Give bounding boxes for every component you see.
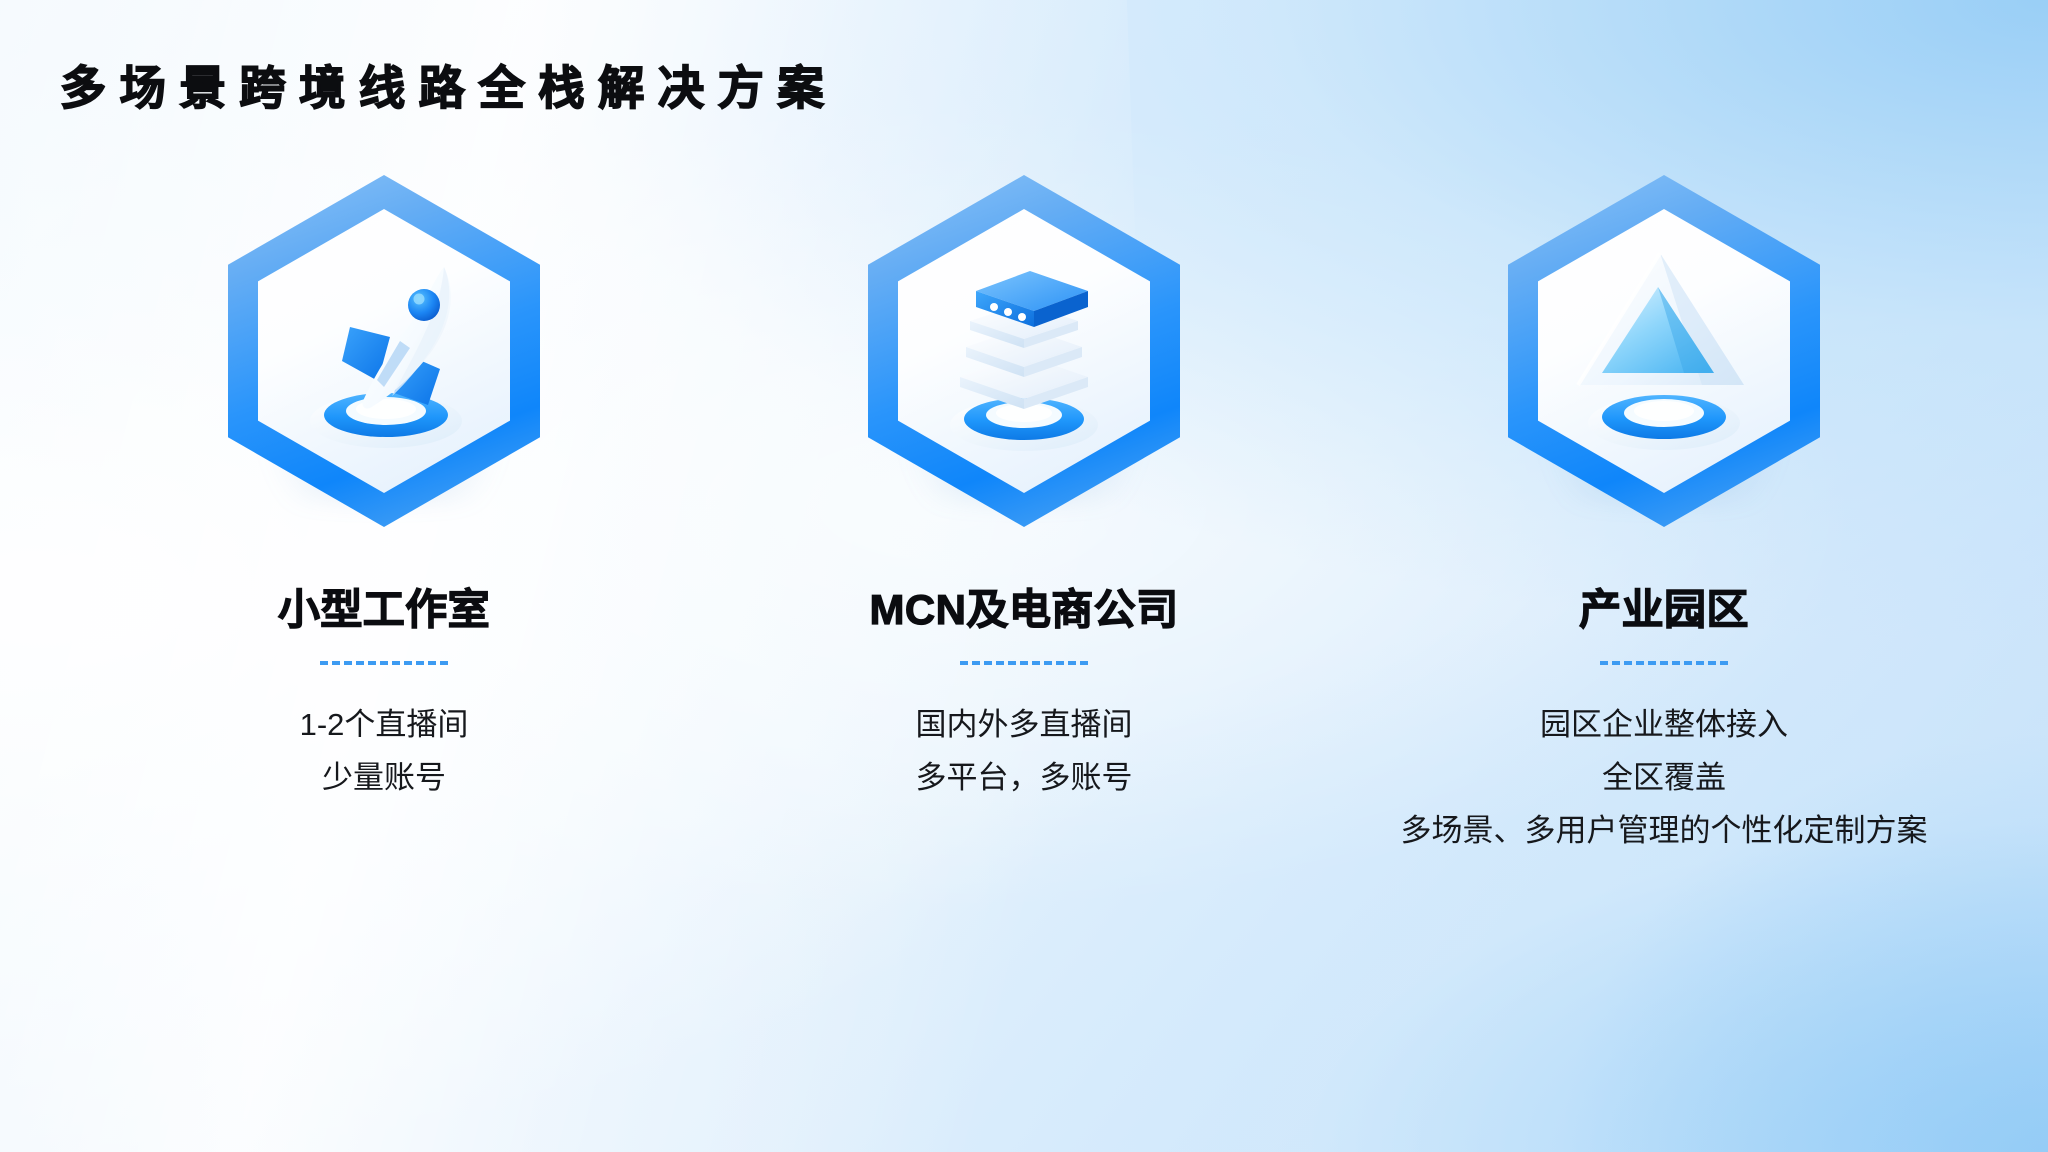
rocket-icon	[258, 209, 510, 493]
scenario-card-industrial-park[interactable]: 产业园区 园区企业整体接入 全区覆盖 多场景、多用户管理的个性化定制方案	[1364, 175, 1964, 857]
dashed-divider	[960, 661, 1088, 665]
prism-triangle-icon	[1538, 209, 1790, 493]
hexagon-badge	[228, 175, 540, 527]
card-line: 多场景、多用户管理的个性化定制方案	[1401, 805, 1928, 858]
card-description: 国内外多直播间 多平台，多账号	[916, 699, 1133, 804]
scenario-card-small-studio[interactable]: 小型工作室 1-2个直播间 少量账号	[84, 175, 684, 805]
card-line: 少量账号	[300, 752, 469, 805]
page-title: 多场景跨境线路全栈解决方案	[60, 60, 837, 117]
card-title: MCN及电商公司	[869, 587, 1178, 633]
card-line: 国内外多直播间	[916, 699, 1133, 752]
hexagon-badge	[868, 175, 1180, 527]
card-line: 多平台，多账号	[916, 752, 1133, 805]
card-line: 全区覆盖	[1401, 752, 1928, 805]
hexagon-badge	[1508, 175, 1820, 527]
dashed-divider	[1600, 661, 1728, 665]
card-title: 小型工作室	[278, 587, 490, 633]
server-stack-icon	[898, 209, 1150, 493]
card-line: 1-2个直播间	[300, 699, 469, 752]
dashed-divider	[320, 661, 448, 665]
card-line: 园区企业整体接入	[1401, 699, 1928, 752]
card-description: 1-2个直播间 少量账号	[300, 699, 469, 804]
card-description: 园区企业整体接入 全区覆盖 多场景、多用户管理的个性化定制方案	[1401, 699, 1928, 857]
scenario-card-row: 小型工作室 1-2个直播间 少量账号	[0, 175, 2048, 1075]
scenario-card-mcn-ecommerce[interactable]: MCN及电商公司 国内外多直播间 多平台，多账号	[724, 175, 1324, 805]
poster-stage: 多场景跨境线路全栈解决方案	[0, 0, 2048, 1152]
card-title: 产业园区	[1579, 587, 1749, 633]
